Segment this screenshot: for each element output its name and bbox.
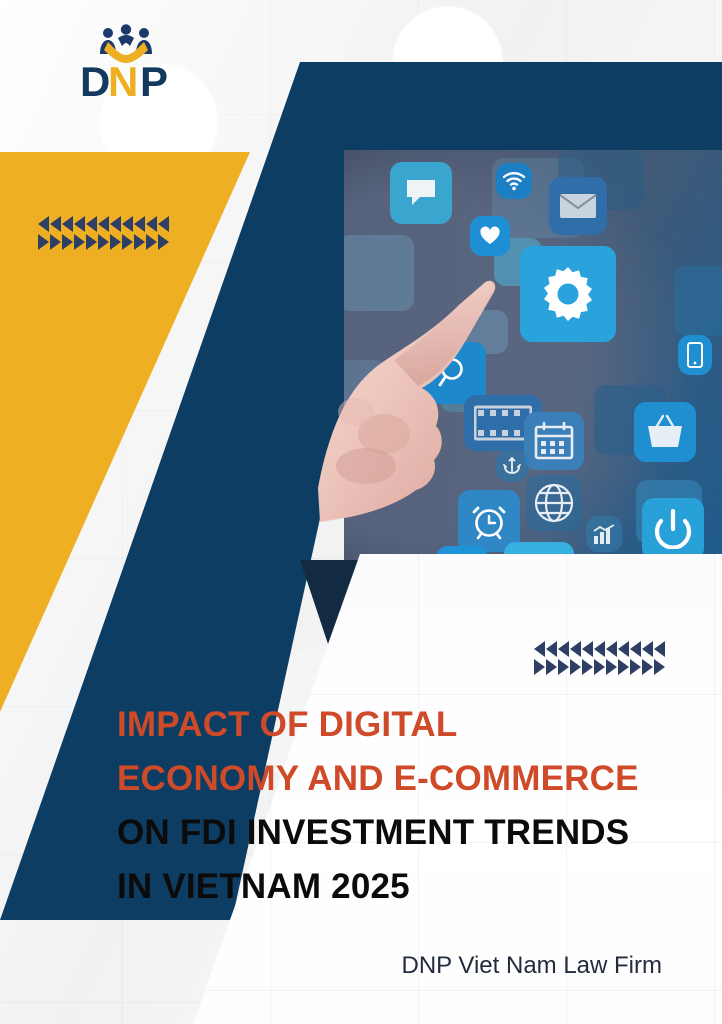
logo-person-left-head xyxy=(103,28,113,38)
triangle-left-icon xyxy=(146,216,157,232)
chevron-row-right-pointing xyxy=(38,234,169,250)
logo-person-right-head xyxy=(139,28,149,38)
triangle-right-icon xyxy=(534,659,545,675)
triangle-right-icon xyxy=(158,234,169,250)
triangle-right-icon xyxy=(50,234,61,250)
triangle-right-icon xyxy=(546,659,557,675)
hero-image: “ xyxy=(344,150,722,597)
document-cover: “ xyxy=(0,0,722,1024)
page-title: IMPACT OF DIGITAL ECONOMY AND E-COMMERCE… xyxy=(117,698,717,914)
triangle-left-icon xyxy=(38,216,49,232)
title-line-4: IN VIETNAM 2025 xyxy=(117,860,717,914)
logo-letter-d: D xyxy=(80,58,110,100)
logo-person-center-head xyxy=(121,24,131,34)
triangle-right-icon xyxy=(558,659,569,675)
triangle-left-icon xyxy=(570,641,581,657)
triangle-left-icon xyxy=(582,641,593,657)
triangle-right-icon xyxy=(570,659,581,675)
calendar-icon xyxy=(524,412,584,470)
triangle-left-icon xyxy=(558,641,569,657)
triangle-right-icon xyxy=(582,659,593,675)
shopping-basket-icon xyxy=(634,402,696,462)
triangle-left-icon xyxy=(618,641,629,657)
tile-plain xyxy=(344,360,386,420)
triangle-left-icon xyxy=(62,216,73,232)
triangle-left-icon xyxy=(546,641,557,657)
triangle-left-icon xyxy=(134,216,145,232)
power-icon xyxy=(642,498,704,560)
triangle-right-icon xyxy=(630,659,641,675)
triangle-right-icon xyxy=(594,659,605,675)
dnp-logo[interactable]: D N P xyxy=(78,24,174,100)
bar-chart-icon xyxy=(586,516,622,552)
triangle-left-icon xyxy=(98,216,109,232)
smartphone-icon xyxy=(678,335,712,375)
triangle-right-icon xyxy=(86,234,97,250)
title-line-1: IMPACT OF DIGITAL xyxy=(117,698,717,752)
logo-person-center-body xyxy=(118,35,134,46)
chevron-decoration-right xyxy=(534,641,665,675)
title-line-2: ECONOMY AND E-COMMERCE xyxy=(117,752,717,806)
chevron-row-right-pointing xyxy=(534,659,665,675)
logo-letter-n: N xyxy=(108,58,138,100)
title-line-3: ON FDI INVESTMENT TRENDS xyxy=(117,806,717,860)
triangle-left-icon xyxy=(86,216,97,232)
triangle-left-icon xyxy=(594,641,605,657)
wifi-icon xyxy=(496,163,532,199)
anchor-icon xyxy=(496,450,528,482)
triangle-right-icon xyxy=(62,234,73,250)
triangle-left-icon xyxy=(606,641,617,657)
envelope-icon xyxy=(549,177,607,235)
triangle-right-icon xyxy=(618,659,629,675)
triangle-left-icon xyxy=(122,216,133,232)
author-byline: DNP Viet Nam Law Firm xyxy=(401,952,662,980)
triangle-right-icon xyxy=(110,234,121,250)
logo-letter-p: P xyxy=(140,58,168,100)
gear-icon xyxy=(520,246,616,342)
chevron-row-left-pointing xyxy=(38,216,169,232)
triangle-right-icon xyxy=(654,659,665,675)
triangle-left-icon xyxy=(158,216,169,232)
triangle-right-icon xyxy=(642,659,653,675)
triangle-left-icon xyxy=(110,216,121,232)
triangle-right-icon xyxy=(122,234,133,250)
triangle-left-icon xyxy=(654,641,665,657)
triangle-right-icon xyxy=(606,659,617,675)
globe-icon xyxy=(526,475,582,531)
triangle-left-icon xyxy=(630,641,641,657)
logo-wordmark: D N P xyxy=(80,58,168,100)
speech-bubble-icon xyxy=(390,162,452,224)
tile-plain xyxy=(674,266,722,336)
triangle-left-icon xyxy=(534,641,545,657)
heart-icon xyxy=(470,216,510,256)
triangle-left-icon xyxy=(642,641,653,657)
triangle-right-icon xyxy=(134,234,145,250)
chevron-row-left-pointing xyxy=(534,641,665,657)
triangle-right-icon xyxy=(98,234,109,250)
triangle-left-icon xyxy=(74,216,85,232)
triangle-right-icon xyxy=(146,234,157,250)
tile-plain xyxy=(344,235,414,311)
triangle-right-icon xyxy=(74,234,85,250)
triangle-left-icon xyxy=(50,216,61,232)
chevron-decoration-left xyxy=(38,216,169,250)
triangle-right-icon xyxy=(38,234,49,250)
